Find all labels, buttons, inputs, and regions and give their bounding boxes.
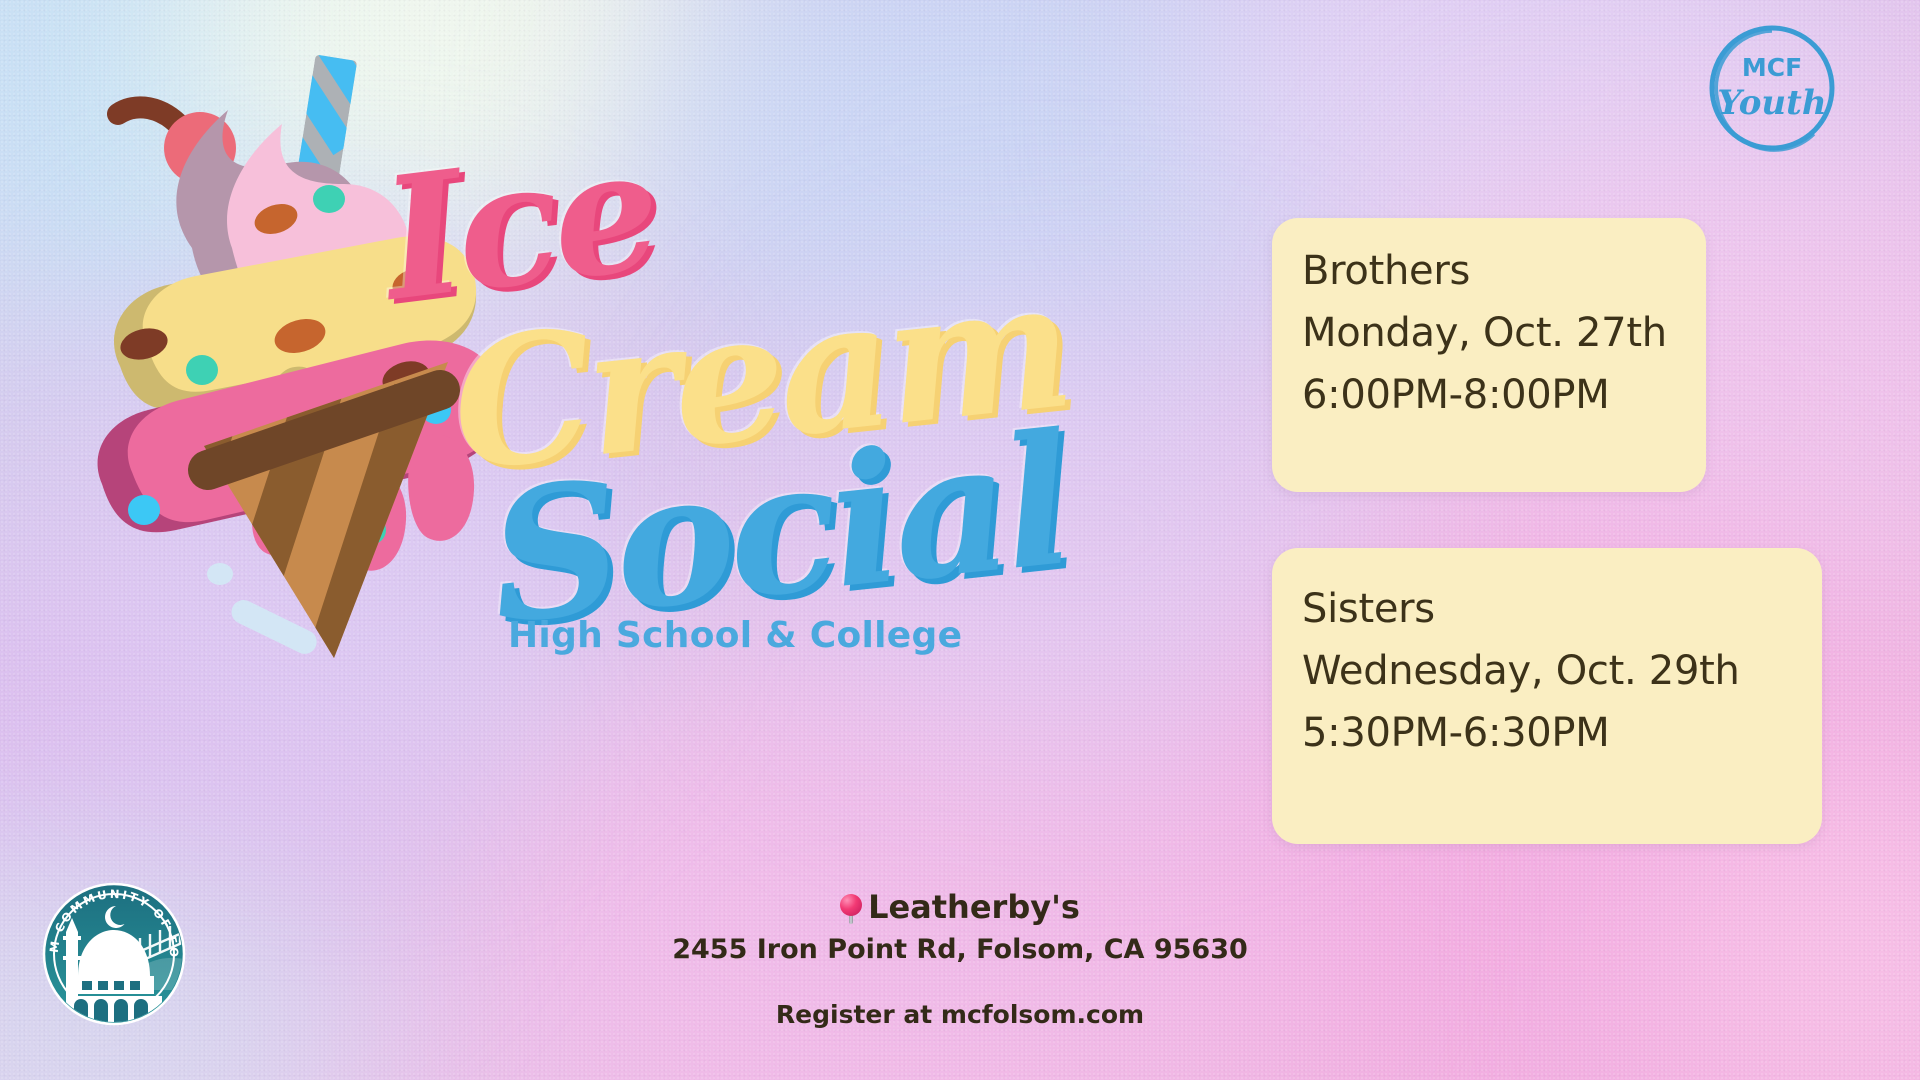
venue-name: Leatherby's	[868, 888, 1080, 926]
brothers-card-lines: Brothers Monday, Oct. 27th 6:00PM-8:00PM	[1302, 240, 1692, 426]
mcf-youth-logo-line1: MCF	[1742, 53, 1802, 82]
location-pin-icon	[840, 894, 862, 924]
headline-word-social: Social	[482, 410, 1075, 649]
subtitle: High School & College	[508, 615, 928, 656]
mcf-youth-logo-line2: Youth	[1717, 83, 1826, 123]
sisters-card-title: Sisters	[1302, 578, 1808, 640]
brothers-card-time: 6:00PM-8:00PM	[1302, 364, 1692, 426]
sisters-card-lines: Sisters Wednesday, Oct. 29th 5:30PM-6:30…	[1302, 578, 1808, 764]
poster-canvas: Ice Cream Social High School & College B…	[0, 0, 1920, 1080]
sisters-card-time: 5:30PM-6:30PM	[1302, 702, 1808, 764]
mcf-youth-logo: MCF Youth	[1702, 18, 1842, 158]
brothers-schedule-card: Brothers Monday, Oct. 27th 6:00PM-8:00PM	[1272, 218, 1706, 492]
sisters-schedule-card: Sisters Wednesday, Oct. 29th 5:30PM-6:30…	[1272, 548, 1822, 844]
mcf-folsom-logo: MUSLIM COMMUNITY OF FOLSOM	[38, 878, 190, 1030]
venue-line: Leatherby's	[600, 888, 1320, 926]
sisters-card-date: Wednesday, Oct. 29th	[1302, 640, 1808, 702]
venue-address: 2455 Iron Point Rd, Folsom, CA 95630	[600, 934, 1320, 965]
register-line: Register at mcfolsom.com	[600, 1000, 1320, 1029]
brothers-card-title: Brothers	[1302, 240, 1692, 302]
brothers-card-date: Monday, Oct. 27th	[1302, 302, 1692, 364]
